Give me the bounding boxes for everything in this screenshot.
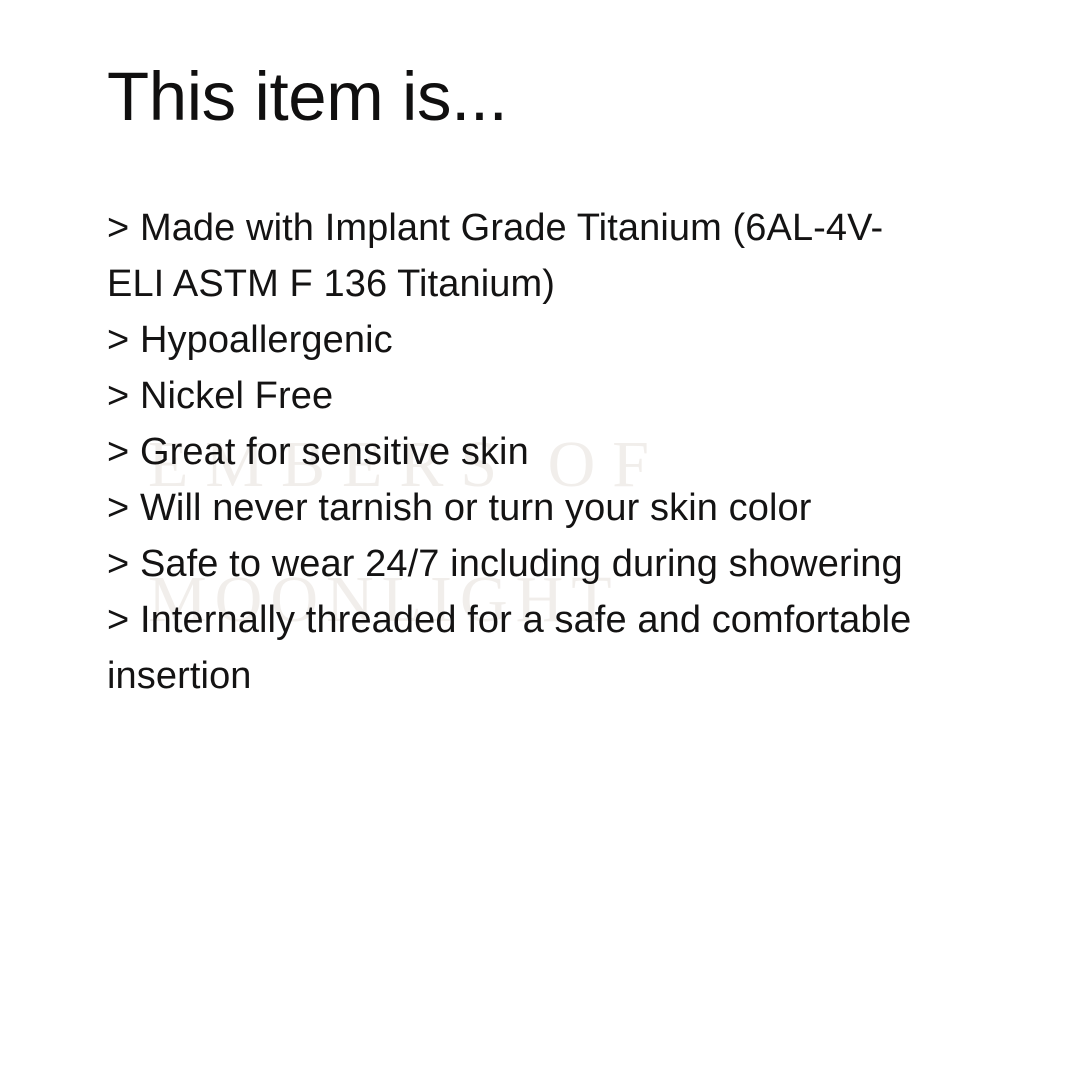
feature-line: ELI ASTM F 136 Titanium) <box>107 256 997 312</box>
feature-line: > Great for sensitive skin <box>107 424 997 480</box>
feature-list: > Made with Implant Grade Titanium (6AL-… <box>107 200 997 704</box>
content-layer: This item is... > Made with Implant Grad… <box>0 0 1080 1080</box>
feature-line: > Made with Implant Grade Titanium (6AL-… <box>107 200 997 256</box>
feature-line: > Internally threaded for a safe and com… <box>107 592 997 648</box>
page-title: This item is... <box>107 62 507 131</box>
feature-line: insertion <box>107 648 997 704</box>
feature-line: > Safe to wear 24/7 including during sho… <box>107 536 997 592</box>
feature-line: > Will never tarnish or turn your skin c… <box>107 480 997 536</box>
product-info-card: EMBERS OF MOONLIGHT This item is... > Ma… <box>0 0 1080 1080</box>
feature-line: > Hypoallergenic <box>107 312 997 368</box>
feature-line: > Nickel Free <box>107 368 997 424</box>
